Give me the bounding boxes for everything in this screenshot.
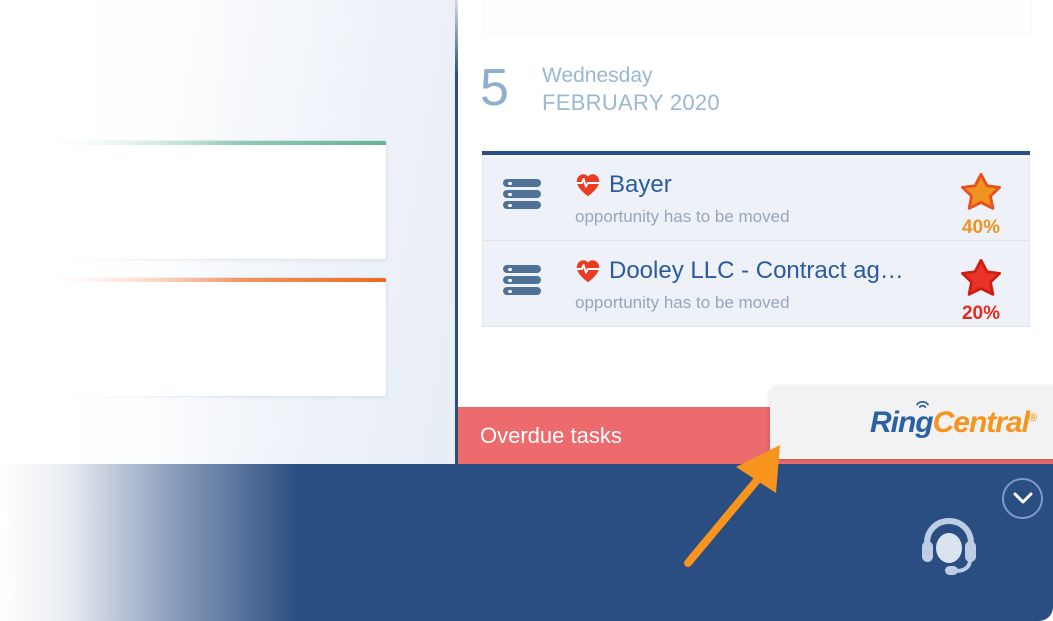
date-month-year: FEBRUARY 2020 <box>542 89 720 117</box>
task-title: Dooley LLC - Contract ag… <box>609 257 904 285</box>
task-score: 40% <box>951 171 1011 239</box>
card-accent-orange <box>0 278 386 282</box>
heart-pulse-icon <box>575 173 601 197</box>
chevron-down-icon <box>1013 492 1033 505</box>
task-title: Bayer <box>609 171 672 199</box>
task-group-feb-5: Bayer opportunity has to be moved 40% <box>482 151 1030 327</box>
task-subtitle: opportunity has to be moved <box>575 207 790 227</box>
ringcentral-widget[interactable]: RingCentral® <box>770 386 1053 459</box>
partial-task-row-top[interactable]: opportunity has to be closed 40% <box>482 0 1032 34</box>
date-weekday: Wednesday <box>542 63 720 89</box>
task-percent: 20% <box>951 303 1011 325</box>
registered-trademark-mark: ® <box>1029 412 1036 424</box>
task-score: 20% <box>951 257 1011 325</box>
bottom-bar-ghost-text-2: ive <box>0 565 17 604</box>
heart-pulse-icon <box>575 259 601 283</box>
task-row[interactable]: Bayer opportunity has to be moved 40% <box>482 155 1030 241</box>
ringcentral-logo: RingCentral® <box>870 406 1036 440</box>
partial-row-subtitle: opportunity has to be closed <box>573 0 786 3</box>
date-label-group: Wednesday FEBRUARY 2020 <box>542 62 720 117</box>
ringcentral-brand-ring: Ring <box>870 406 933 439</box>
task-title-line: Bayer <box>575 171 672 199</box>
overdue-tasks-label: Overdue tasks <box>480 423 622 449</box>
card-accent-green <box>0 141 386 145</box>
date-day-number: 5 <box>480 62 542 114</box>
left-background-pane <box>0 0 457 478</box>
task-subtitle: opportunity has to be moved <box>575 293 790 313</box>
server-stack-icon <box>503 265 541 295</box>
task-percent: 40% <box>951 217 1011 239</box>
headset-support-icon[interactable] <box>918 515 980 577</box>
server-stack-icon <box>503 179 541 209</box>
ringcentral-brand-central: Central <box>933 406 1029 439</box>
bottom-bar-ghost-text-1: n <box>0 490 12 544</box>
background-card-orange <box>0 277 387 397</box>
task-title-line: Dooley LLC - Contract ag… <box>575 257 904 285</box>
star-icon <box>960 171 1002 211</box>
wifi-signal-icon <box>915 397 932 409</box>
bottom-navy-bar <box>0 464 1053 621</box>
partial-row-percent: 40% <box>987 0 1015 1</box>
task-row[interactable]: Dooley LLC - Contract ag… opportunity ha… <box>482 241 1030 327</box>
date-header: 5 Wednesday FEBRUARY 2020 <box>480 62 720 117</box>
screenshot-root: opportunity has to be closed 40% 5 Wedne… <box>0 0 1053 621</box>
background-card-green <box>0 140 387 260</box>
star-icon <box>960 257 1002 297</box>
collapse-chevron-button[interactable] <box>1002 478 1043 519</box>
